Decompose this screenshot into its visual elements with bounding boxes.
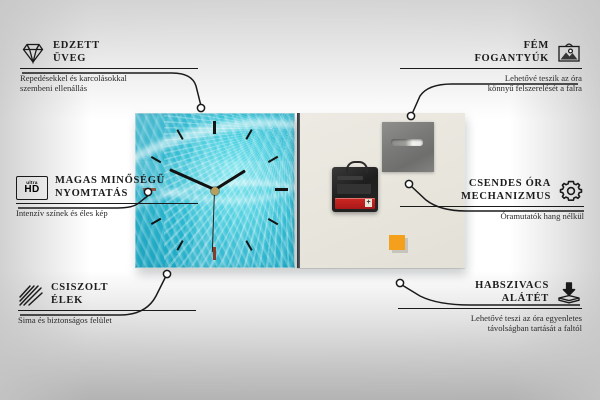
feature-title-line2: ÉLEK bbox=[51, 295, 108, 308]
feature-divider bbox=[16, 203, 198, 204]
feature-divider bbox=[20, 68, 198, 69]
feature-subtitle: Sima és biztonságos felület bbox=[18, 315, 196, 325]
battery: + bbox=[335, 198, 375, 209]
battery-terminal: + bbox=[365, 199, 372, 207]
feature-header: ultra HD MAGAS MINŐSÉGŰ NYOMTATÁS bbox=[16, 175, 198, 200]
mechanism-detail-top bbox=[337, 176, 363, 180]
gear-icon bbox=[558, 179, 584, 203]
panel-seam bbox=[297, 113, 300, 268]
mechanism-detail-body bbox=[337, 184, 371, 194]
metal-hanger-plate bbox=[382, 122, 434, 172]
feature-subtitle: Intenzív színek és éles kép bbox=[16, 208, 198, 218]
feature-foam-pad: HABSZIVACS ALÁTÉT Lehetővé teszi az óra … bbox=[398, 280, 582, 333]
feature-divider bbox=[400, 68, 582, 69]
feature-subtitle: Óramutatók hang nélkül bbox=[400, 211, 584, 221]
feature-divider bbox=[398, 308, 582, 309]
feature-title-line2: MECHANIZMUS bbox=[461, 191, 551, 204]
feature-divider bbox=[400, 206, 584, 207]
feature-subtitle: Repedésekkel és karcolásokkal bbox=[20, 73, 198, 83]
feature-divider bbox=[18, 310, 196, 311]
press-pad-icon bbox=[556, 281, 582, 305]
feature-title-line2: ALÁTÉT bbox=[475, 293, 549, 306]
feature-metal-handles: FÉM FOGANTYÚK Lehetővé teszik az óra kön… bbox=[400, 40, 582, 93]
feature-title-line2: ÜVEG bbox=[53, 53, 100, 66]
diamond-icon bbox=[20, 41, 46, 65]
feature-header: EDZETT ÜVEG bbox=[20, 40, 198, 65]
ultra-hd-icon-main: HD bbox=[24, 185, 39, 195]
feature-title: HABSZIVACS bbox=[475, 280, 549, 293]
mechanism-loop bbox=[346, 161, 368, 173]
feature-title-line2: NYOMTATÁS bbox=[55, 188, 165, 201]
polished-edges-icon bbox=[18, 283, 44, 307]
feature-header: CSENDES ÓRA MECHANIZMUS bbox=[400, 178, 584, 203]
feature-title-line2: FOGANTYÚK bbox=[474, 53, 549, 66]
feature-subtitle: Lehetővé teszi az óra egyenletes bbox=[398, 313, 582, 323]
feature-subtitle-line2: szembeni ellenállás bbox=[20, 83, 198, 93]
feature-high-quality-print: ultra HD MAGAS MINŐSÉGŰ NYOMTATÁS Intenz… bbox=[16, 175, 198, 218]
clock-mechanism: + bbox=[332, 167, 378, 212]
feature-silent-mechanism: CSENDES ÓRA MECHANIZMUS Óramutatók hang … bbox=[400, 178, 584, 221]
feature-title: CSENDES ÓRA bbox=[461, 178, 551, 191]
hanger-slot bbox=[391, 139, 423, 146]
feature-title: CSISZOLT bbox=[51, 282, 108, 295]
feature-subtitle-line2: távolságban tartását a faltól bbox=[398, 323, 582, 333]
feature-subtitle-line2: könnyű felszerelését a falra bbox=[400, 83, 582, 93]
feature-subtitle: Lehetővé teszik az óra bbox=[400, 73, 582, 83]
feature-title: MAGAS MINŐSÉGŰ bbox=[55, 175, 165, 188]
feature-polished-edges: CSISZOLT ÉLEK Sima és biztonságos felüle… bbox=[18, 282, 196, 325]
feature-header: FÉM FOGANTYÚK bbox=[400, 40, 582, 65]
feature-title: FÉM bbox=[474, 40, 549, 53]
feature-header: HABSZIVACS ALÁTÉT bbox=[398, 280, 582, 305]
feature-tempered-glass: EDZETT ÜVEG Repedésekkel és karcolásokka… bbox=[20, 40, 198, 93]
feature-title: EDZETT bbox=[53, 40, 100, 53]
infographic-canvas: + bbox=[0, 0, 600, 400]
foam-spacer-pad bbox=[389, 235, 405, 250]
feature-header: CSISZOLT ÉLEK bbox=[18, 282, 196, 307]
picture-hanger-icon bbox=[556, 41, 582, 65]
ultra-hd-icon: ultra HD bbox=[16, 176, 48, 200]
